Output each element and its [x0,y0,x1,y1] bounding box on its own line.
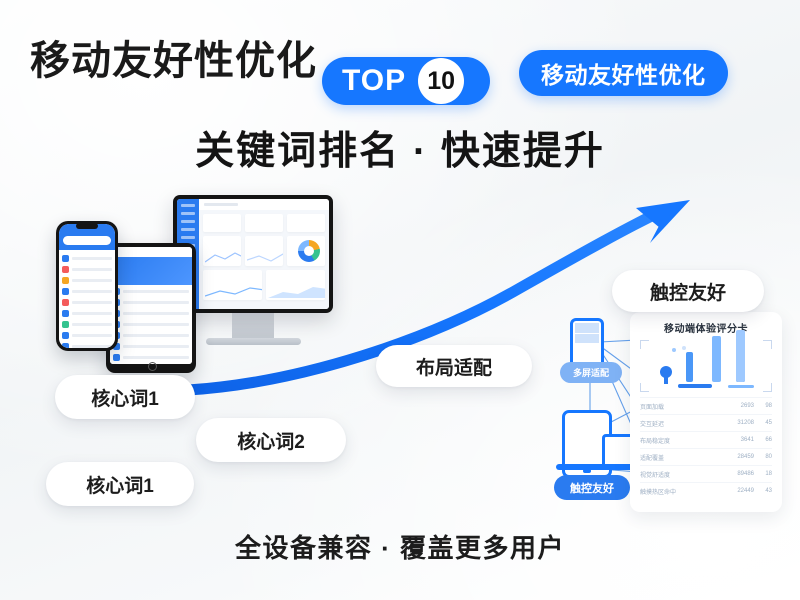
row-value-2: 43 [754,488,772,494]
row-value-1: 31208 [728,420,754,426]
row-value-1: 2693 [728,403,754,409]
scorecard-rows: 页面加载 2693 98 交互延迟 31208 45 布局稳定度 3641 66… [640,397,772,499]
touch-friendly-label: 触控友好 [570,480,614,496]
device-mockups [28,195,328,395]
top-rank-number: 10 [418,58,464,104]
poster-canvas: 多屏适配 触控友好 移动端体验评分卡 [0,0,800,600]
header-tag-badge[interactable]: 移动友好性优化 [519,50,728,96]
donut-chart [298,240,320,262]
multi-screen-badge[interactable]: 多屏适配 [560,362,622,383]
tablet-banner [110,257,192,285]
keyword-pill-1-label: 核心词1 [91,384,159,411]
touch-friendly-pill-label: 触控友好 [650,278,726,305]
row-name: 交互延迟 [640,419,728,428]
table-row: 页面加载 2693 98 [640,397,772,414]
dashboard-body [199,210,329,309]
layout-adaptation-pill[interactable]: 布局适配 [376,345,532,387]
monitor-base [206,338,301,345]
row-name: 适配覆盖 [640,453,728,462]
header-tag-label: 移动友好性优化 [541,56,706,90]
row-name: 布局稳定度 [640,436,728,445]
row-value-1: 3641 [728,437,754,443]
row-value-2: 80 [754,454,772,460]
row-value-1: 89486 [728,471,754,477]
row-value-2: 66 [754,437,772,443]
touch-friendly-pill[interactable]: 触控友好 [612,270,764,312]
phone-mockup [56,221,118,351]
scorecard-chart [640,340,772,392]
row-value-1: 22449 [728,488,754,494]
phone-notch [76,223,98,229]
row-value-2: 45 [754,420,772,426]
layout-adaptation-label: 布局适配 [416,353,492,380]
keyword-pill-1[interactable]: 核心词1 [55,375,195,419]
tablet-home-button [148,362,157,371]
row-name: 触摸热区命中 [640,487,728,496]
keyword-pill-2[interactable]: 核心词2 [196,418,346,462]
page-footer-text: 全设备兼容 · 覆盖更多用户 [0,528,800,565]
top-rank-badge: TOP 10 [322,57,490,105]
keyword-pill-3[interactable]: 核心词1 [46,462,194,506]
scorecard-title: 移动端体验评分卡 [640,320,772,335]
table-row: 触摸热区命中 22449 43 [640,482,772,499]
tablet-mockup [106,243,196,373]
scorecard-panel: 移动端体验评分卡 页面加载 2693 98 [630,312,782,512]
row-value-2: 98 [754,403,772,409]
row-name: 视觉舒适度 [640,470,728,479]
row-value-2: 18 [754,471,772,477]
table-row: 交互延迟 31208 45 [640,414,772,431]
table-row: 视觉舒适度 89486 18 [640,465,772,482]
row-name: 页面加载 [640,402,728,411]
touch-friendly-badge[interactable]: 触控友好 [554,475,630,500]
multi-screen-label: 多屏适配 [573,366,609,379]
monitor-stand [232,313,274,339]
top-rank-label: TOP [322,66,418,96]
page-subtitle: 关键词排名 · 快速提升 [0,120,800,176]
desktop-monitor-mockup [173,195,333,313]
keyword-pill-2-label: 核心词2 [237,427,305,454]
page-title: 移动友好性优化 [30,28,317,86]
table-row: 布局稳定度 3641 66 [640,431,772,448]
keyword-pill-3-label: 核心词1 [86,471,154,498]
mobile-experience-diagram: 多屏适配 触控友好 移动端体验评分卡 [552,312,782,512]
phone-search-bar [63,236,111,245]
row-value-1: 28459 [728,454,754,460]
table-row: 适配覆盖 28459 80 [640,448,772,465]
